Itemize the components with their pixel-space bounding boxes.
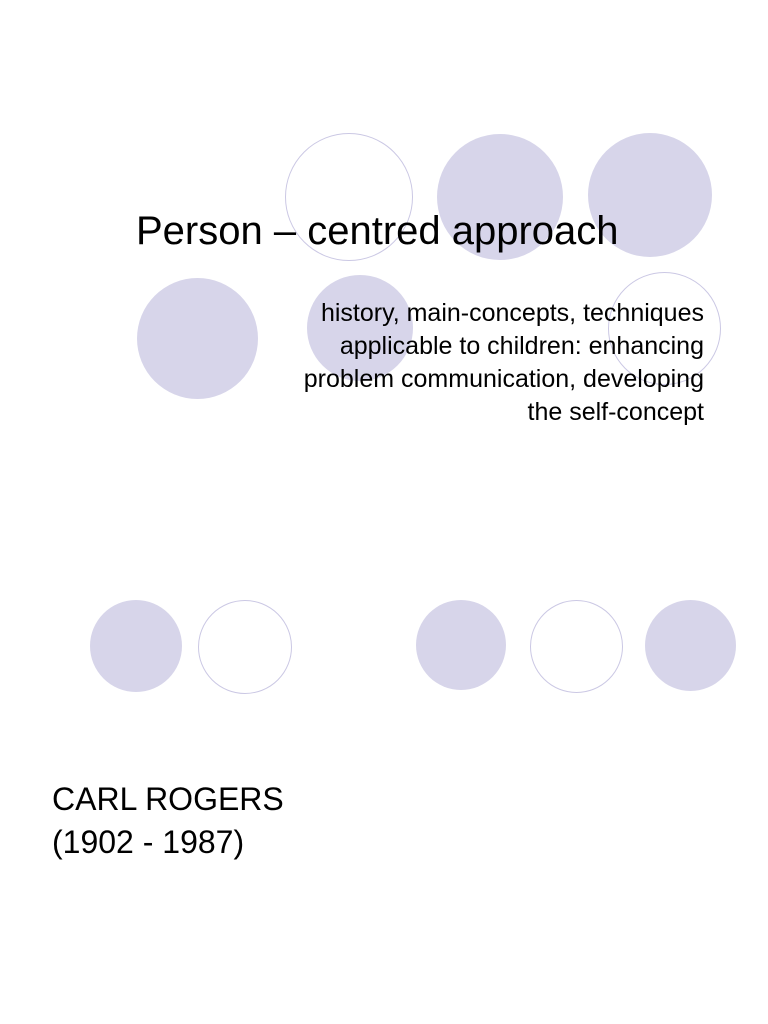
presentation-slide: Person – centred approach history, main-… [0, 0, 768, 1024]
subtitle-line-3: problem communication, developing [200, 363, 704, 396]
author-block: CARL ROGERS (1902 - 1987) [52, 778, 472, 864]
subtitle-block: history, main-concepts, techniques appli… [200, 297, 704, 429]
subtitle-line-2: applicable to children: enhancing [200, 330, 704, 363]
title-block: Person – centred approach [136, 207, 716, 255]
slide-text-layer: Person – centred approach history, main-… [0, 0, 768, 1024]
subtitle-line-4: the self-concept [200, 396, 704, 429]
author-name: CARL ROGERS [52, 778, 472, 821]
author-lifespan: (1902 - 1987) [52, 821, 472, 864]
slide-title: Person – centred approach [136, 207, 716, 255]
subtitle-line-1: history, main-concepts, techniques [200, 297, 704, 330]
